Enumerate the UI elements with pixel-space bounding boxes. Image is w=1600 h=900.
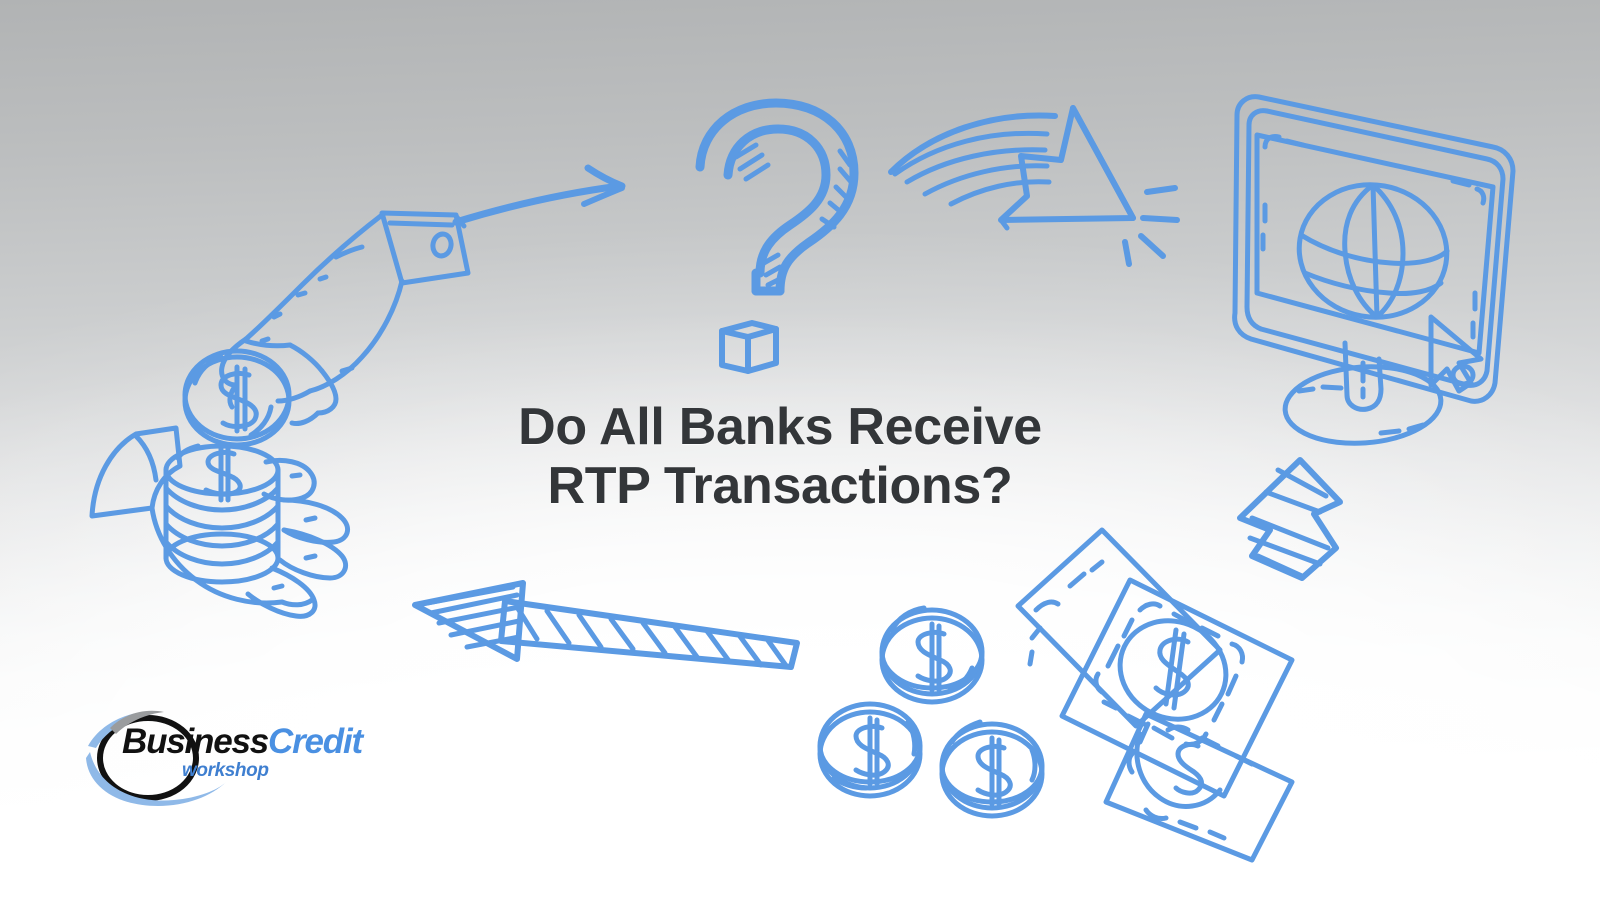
swoosh-arrow-right-icon (885, 100, 1185, 260)
logo-wordmark: BusinessCredit (122, 722, 362, 762)
brand-logo[interactable]: BusinessCredit workshop (86, 700, 416, 808)
logo-word-credit: Credit (268, 722, 362, 761)
page-title-line-2: RTP Transactions? (0, 457, 1560, 516)
logo-word-business: Business (122, 722, 268, 761)
hatched-arrow-left-icon (405, 555, 805, 685)
page-title: Do All Banks Receive RTP Transactions? (0, 398, 1560, 517)
page-title-line-1: Do All Banks Receive (0, 398, 1560, 457)
coins-and-banknotes-icon (840, 510, 1310, 860)
question-mark-icon (690, 95, 880, 375)
poster-canvas: Do All Banks Receive RTP Transactions? B… (0, 0, 1600, 900)
logo-tagline: workshop (182, 760, 269, 782)
thin-arrow-right-icon (448, 160, 638, 240)
